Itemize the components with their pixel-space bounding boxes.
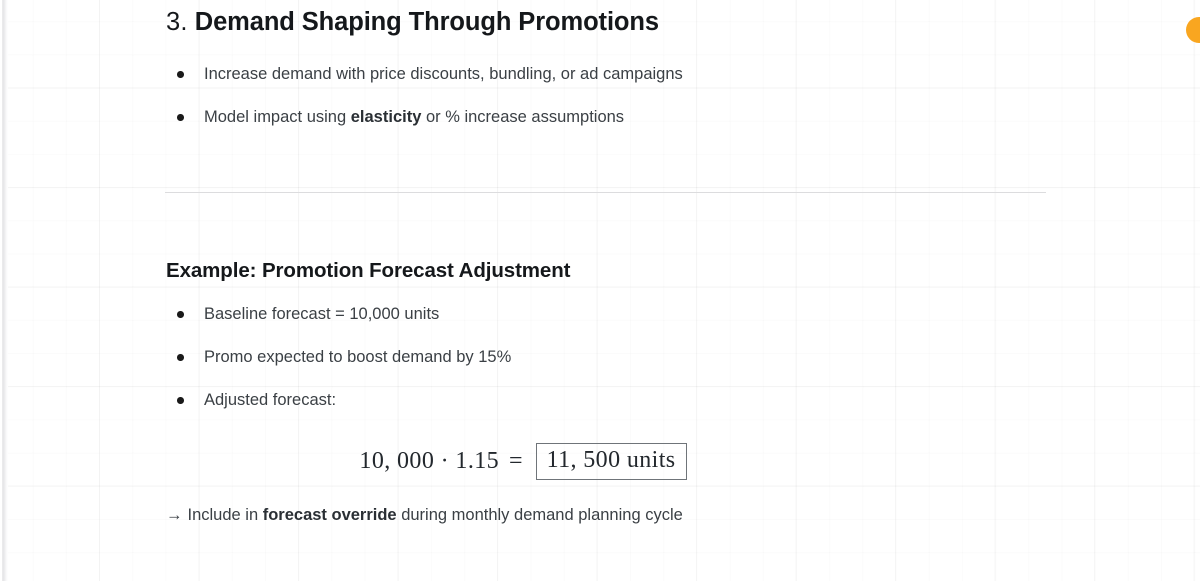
list-item: Adjusted forecast:	[0, 390, 1000, 433]
list-item: Promo expected to boost demand by 15%	[0, 347, 1000, 390]
list-item-label: Model impact using elasticity or % incre…	[204, 107, 624, 128]
section-title: Demand Shaping Through Promotions	[195, 8, 659, 36]
list-item-label: Increase demand with price discounts, bu…	[204, 64, 683, 85]
list-item-label: Adjusted forecast:	[204, 390, 336, 411]
arrow-right-icon: →	[166, 506, 183, 524]
equation-boxed-result: 11, 500 units	[536, 443, 687, 480]
bullet-marker-icon	[177, 311, 184, 318]
list-item-label: Promo expected to boost demand by 15%	[204, 347, 511, 368]
equation-left-side: 10, 000 · 1.15	[359, 448, 499, 475]
bullet-marker-icon	[177, 71, 184, 78]
bullet-marker-icon	[177, 114, 184, 121]
equation-operator: =	[509, 448, 523, 475]
document-page: 3. Demand Shaping Through Promotions Inc…	[0, 0, 1200, 581]
list-item: Baseline forecast = 10,000 units	[0, 304, 1000, 347]
list-item-label: Baseline forecast = 10,000 units	[204, 304, 439, 325]
example-heading: Example: Promotion Forecast Adjustment	[166, 259, 570, 283]
section-heading: 3. Demand Shaping Through Promotions	[166, 7, 659, 38]
footer-note-text: Include in forecast override during mont…	[188, 506, 683, 524]
bullet-marker-icon	[177, 397, 184, 404]
forecast-equation: 10, 000 · 1.15 = 11, 500 units	[0, 443, 1046, 480]
footer-note: →Include in forecast override during mon…	[166, 505, 683, 526]
promotions-bullet-list: Increase demand with price discounts, bu…	[0, 64, 1000, 150]
bullet-marker-icon	[177, 354, 184, 361]
example-bullet-list: Baseline forecast = 10,000 units Promo e…	[0, 304, 1000, 433]
section-number: 3.	[166, 8, 188, 36]
section-divider	[165, 192, 1046, 193]
list-item: Model impact using elasticity or % incre…	[0, 107, 1000, 150]
list-item: Increase demand with price discounts, bu…	[0, 64, 1000, 107]
document-content: 3. Demand Shaping Through Promotions Inc…	[0, 0, 1200, 581]
